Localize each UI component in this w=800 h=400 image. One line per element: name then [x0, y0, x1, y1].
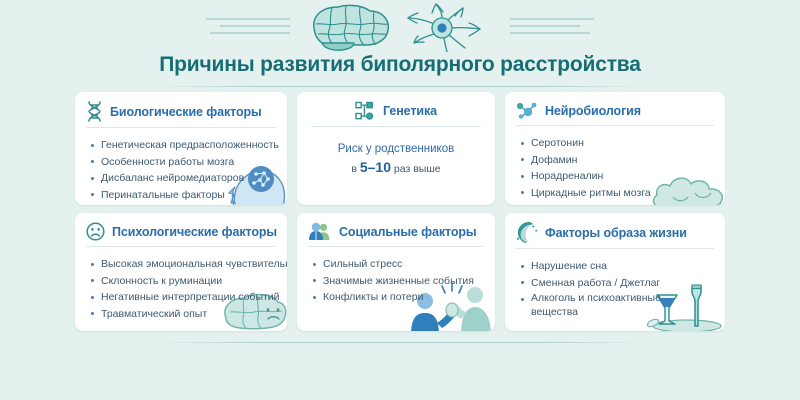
card-title: Нейробиология [545, 104, 641, 118]
card-header: Социальные факторы [297, 213, 495, 246]
list-item: Значимые жизненные события [313, 273, 485, 290]
stat-suffix: раз выше [391, 163, 441, 175]
list-item: Высокая эмоциональная чувствительность [91, 256, 277, 273]
card-title: Социальные факторы [339, 225, 477, 239]
list-item: Сильный стресс [313, 256, 485, 273]
card-bullet-list: Сильный стресс Значимые жизненные событи… [297, 247, 495, 306]
decorative-lines-left [206, 16, 290, 38]
card-genetics[interactable]: Генетика Риск у родственников в 5–10 раз… [297, 92, 495, 205]
stat-value: 5–10 [360, 159, 391, 175]
card-header: Нейробиология [505, 92, 725, 125]
genetics-stat-line1: Риск у родственников [303, 140, 489, 158]
card-header: Факторы образа жизни [505, 213, 725, 248]
card-social[interactable]: Социальные факторы [297, 213, 495, 331]
header-artwork [0, 0, 800, 52]
family-tree-icon [355, 101, 375, 121]
stat-prefix: в [351, 163, 360, 175]
list-item: Склонность к руминации [91, 273, 277, 290]
page-title: Причины развития биполярного расстройств… [0, 53, 800, 77]
card-header: Генетика [297, 92, 495, 126]
card-neurobiology[interactable]: Нейробиология Серотонин Дофамин Норадрен… [505, 92, 725, 205]
list-item: Серотонин [521, 135, 715, 152]
card-row-bottom: Психологические факторы Высокая эмоциона… [75, 213, 725, 331]
list-item: Особенности работы мозга [91, 154, 277, 171]
list-item: Травматический опыт [91, 306, 277, 323]
card-header: Психологические факторы [75, 213, 287, 246]
sad-face-icon [86, 222, 105, 241]
list-item: Негативные интерпретации событий [91, 289, 277, 306]
genetics-stat: Риск у родственников в 5–10 раз выше [297, 127, 495, 178]
brain-and-neuron-illustration [296, 2, 504, 52]
genetics-stat-line2: в 5–10 раз выше [303, 158, 489, 178]
card-title: Факторы образа жизни [545, 226, 687, 240]
list-item: Норадреналин [521, 168, 715, 185]
card-biological[interactable]: Биологические факторы [75, 92, 287, 205]
card-psychological[interactable]: Психологические факторы Высокая эмоциона… [75, 213, 287, 331]
card-lifestyle[interactable]: Факторы образа жизни Нарушение сна [505, 213, 725, 331]
decorative-lines-right [510, 16, 594, 38]
card-bullet-list: Высокая эмоциональная чувствительность С… [75, 247, 287, 322]
molecule-icon [516, 101, 538, 120]
card-header: Биологические факторы [75, 92, 287, 127]
card-title: Психологические факторы [112, 225, 277, 239]
list-item: Дисбаланс нейромедиаторов [91, 170, 277, 187]
list-item: Дофамин [521, 152, 715, 169]
card-title: Биологические факторы [110, 105, 262, 119]
list-item: Нарушение сна [521, 258, 715, 275]
card-bullet-list: Нарушение сна Сменная работа / Джетлаг А… [505, 249, 725, 319]
infographic-root: Причины развития биполярного расстройств… [0, 0, 800, 400]
neuron-icon [408, 4, 480, 52]
card-row-top: Биологические факторы [75, 92, 725, 205]
card-bullet-list: Генетическая предрасположенность Особенн… [75, 128, 287, 203]
dna-icon [86, 101, 103, 122]
list-item: Перинатальные факторы [91, 187, 277, 204]
list-item: Алкоголь и психоактивные вещества [521, 291, 681, 319]
list-item: Конфликты и потери [313, 289, 485, 306]
list-item: Сменная работа / Джетлаг [521, 275, 715, 292]
brain-icon [314, 5, 389, 50]
card-bullet-list: Серотонин Дофамин Норадреналин Циркадные… [505, 126, 725, 201]
list-item: Генетическая предрасположенность [91, 137, 277, 154]
divider-top [156, 86, 644, 87]
moon-icon [516, 222, 538, 243]
divider-bottom [156, 342, 644, 343]
list-item: Циркадные ритмы мозга [521, 185, 715, 202]
card-title: Генетика [383, 104, 437, 118]
two-people-icon [308, 222, 332, 241]
